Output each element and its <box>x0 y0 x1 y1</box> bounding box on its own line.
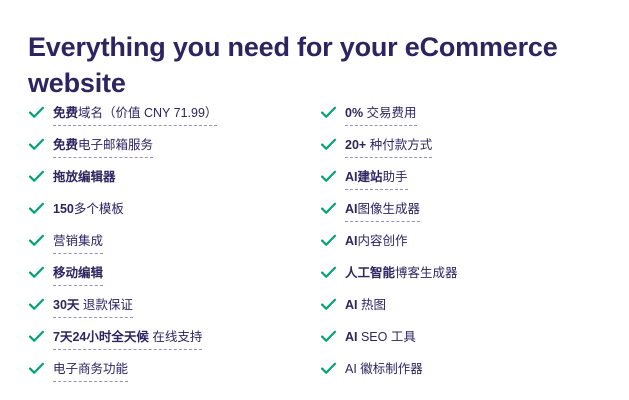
check-icon <box>28 168 45 185</box>
check-icon <box>28 104 45 121</box>
feature-label[interactable]: 免费电子邮箱服务 <box>53 135 153 158</box>
feature-column-left: 免费域名（价值 CNY 71.99）免费电子邮箱服务拖放编辑器150多个模板营销… <box>0 103 314 391</box>
feature-label-emphasis: 30天 <box>53 298 79 312</box>
feature-item: 免费电子邮箱服务 <box>28 135 314 167</box>
feature-label-emphasis: 20+ <box>345 138 366 152</box>
feature-label: 150多个模板 <box>53 199 124 221</box>
feature-item: AI内容创作 <box>320 231 629 263</box>
feature-column-right: 0% 交易费用20+ 种付款方式AI建站助手AI图像生成器AI内容创作人工智能博… <box>314 103 629 391</box>
feature-label: AI 热图 <box>345 295 386 317</box>
feature-list-left: 免费域名（价值 CNY 71.99）免费电子邮箱服务拖放编辑器150多个模板营销… <box>28 103 314 391</box>
feature-label-emphasis: 免费 <box>53 106 78 120</box>
feature-item: 拖放编辑器 <box>28 167 314 199</box>
feature-item: 人工智能博客生成器 <box>320 263 629 295</box>
feature-label: AI 徽标制作器 <box>345 359 423 381</box>
feature-label-rest: AI 徽标制作器 <box>345 362 423 376</box>
feature-label-emphasis: AI <box>345 234 358 248</box>
page-title: Everything you need for your eCommerce w… <box>28 30 608 101</box>
feature-label[interactable]: 7天24小时全天候 在线支持 <box>53 327 202 350</box>
feature-label-rest: 助手 <box>383 170 408 184</box>
check-icon <box>28 136 45 153</box>
feature-item: AI 热图 <box>320 295 629 327</box>
check-icon <box>320 328 337 345</box>
check-icon <box>320 200 337 217</box>
check-icon <box>320 264 337 281</box>
feature-item: 移动编辑 <box>28 263 314 295</box>
feature-item: AI 徽标制作器 <box>320 359 629 391</box>
feature-item: 电子商务功能 <box>28 359 314 391</box>
feature-item: 20+ 种付款方式 <box>320 135 629 167</box>
check-icon <box>320 360 337 377</box>
feature-item: 营销集成 <box>28 231 314 263</box>
check-icon <box>320 296 337 313</box>
check-icon <box>28 200 45 217</box>
check-icon <box>28 232 45 249</box>
feature-label-rest: 营销集成 <box>53 234 103 248</box>
check-icon <box>28 328 45 345</box>
feature-item: AI建站助手 <box>320 167 629 199</box>
feature-label-emphasis: 拖放编辑器 <box>53 170 116 184</box>
feature-columns: 免费域名（价值 CNY 71.99）免费电子邮箱服务拖放编辑器150多个模板营销… <box>0 103 629 391</box>
feature-label-emphasis: AI <box>345 298 358 312</box>
feature-label-emphasis: 人工智能 <box>345 266 395 280</box>
feature-label[interactable]: 30天 退款保证 <box>53 295 133 318</box>
check-icon <box>28 296 45 313</box>
feature-label-emphasis: 移动编辑 <box>53 266 103 280</box>
feature-label: AI内容创作 <box>345 231 408 253</box>
check-icon <box>28 360 45 377</box>
check-icon <box>320 136 337 153</box>
check-icon <box>320 104 337 121</box>
feature-item: AI图像生成器 <box>320 199 629 231</box>
feature-label[interactable]: 20+ 种付款方式 <box>345 135 432 158</box>
feature-label-rest: 退款保证 <box>79 298 132 312</box>
feature-label-rest: 交易费用 <box>363 106 416 120</box>
feature-label[interactable]: 电子商务功能 <box>53 359 128 382</box>
feature-label-rest: 电子商务功能 <box>53 362 128 376</box>
feature-label[interactable]: AI图像生成器 <box>345 199 420 222</box>
feature-item: 7天24小时全天候 在线支持 <box>28 327 314 359</box>
feature-label-emphasis: 150 <box>53 202 74 216</box>
feature-label-rest: 种付款方式 <box>366 138 432 152</box>
feature-label: 拖放编辑器 <box>53 167 116 189</box>
feature-label[interactable]: 免费域名（价值 CNY 71.99） <box>53 103 217 126</box>
check-icon <box>28 264 45 281</box>
feature-label[interactable]: AI建站助手 <box>345 167 408 190</box>
feature-label[interactable]: 营销集成 <box>53 231 103 254</box>
feature-label-emphasis: AI建站 <box>345 170 383 184</box>
feature-label-rest: 内容创作 <box>358 234 408 248</box>
feature-item: 0% 交易费用 <box>320 103 629 135</box>
feature-label-rest: SEO 工具 <box>358 330 416 344</box>
feature-label-emphasis: AI <box>345 330 358 344</box>
feature-label-rest: 电子邮箱服务 <box>78 138 153 152</box>
check-icon <box>320 232 337 249</box>
feature-list-right: 0% 交易费用20+ 种付款方式AI建站助手AI图像生成器AI内容创作人工智能博… <box>320 103 629 391</box>
feature-label-emphasis: AI <box>345 202 358 216</box>
feature-label[interactable]: 移动编辑 <box>53 263 103 286</box>
feature-label: 人工智能博客生成器 <box>345 263 458 285</box>
feature-list-page: Everything you need for your eCommerce w… <box>0 0 629 400</box>
feature-item: 150多个模板 <box>28 199 314 231</box>
feature-label-emphasis: 0% <box>345 106 363 120</box>
feature-label[interactable]: 0% 交易费用 <box>345 103 417 126</box>
feature-label-rest: 热图 <box>358 298 386 312</box>
check-icon <box>320 168 337 185</box>
feature-label-emphasis: 免费 <box>53 138 78 152</box>
feature-label-rest: 多个模板 <box>74 202 124 216</box>
feature-label-emphasis: 7天24小时全天候 <box>53 330 149 344</box>
feature-item: 30天 退款保证 <box>28 295 314 327</box>
feature-item: 免费域名（价值 CNY 71.99） <box>28 103 314 135</box>
feature-item: AI SEO 工具 <box>320 327 629 359</box>
feature-label-rest: 在线支持 <box>149 330 202 344</box>
feature-label-rest: 博客生成器 <box>395 266 458 280</box>
feature-label-rest: 图像生成器 <box>358 202 421 216</box>
feature-label: AI SEO 工具 <box>345 327 416 349</box>
feature-label-rest: 域名（价值 CNY 71.99） <box>78 106 217 120</box>
